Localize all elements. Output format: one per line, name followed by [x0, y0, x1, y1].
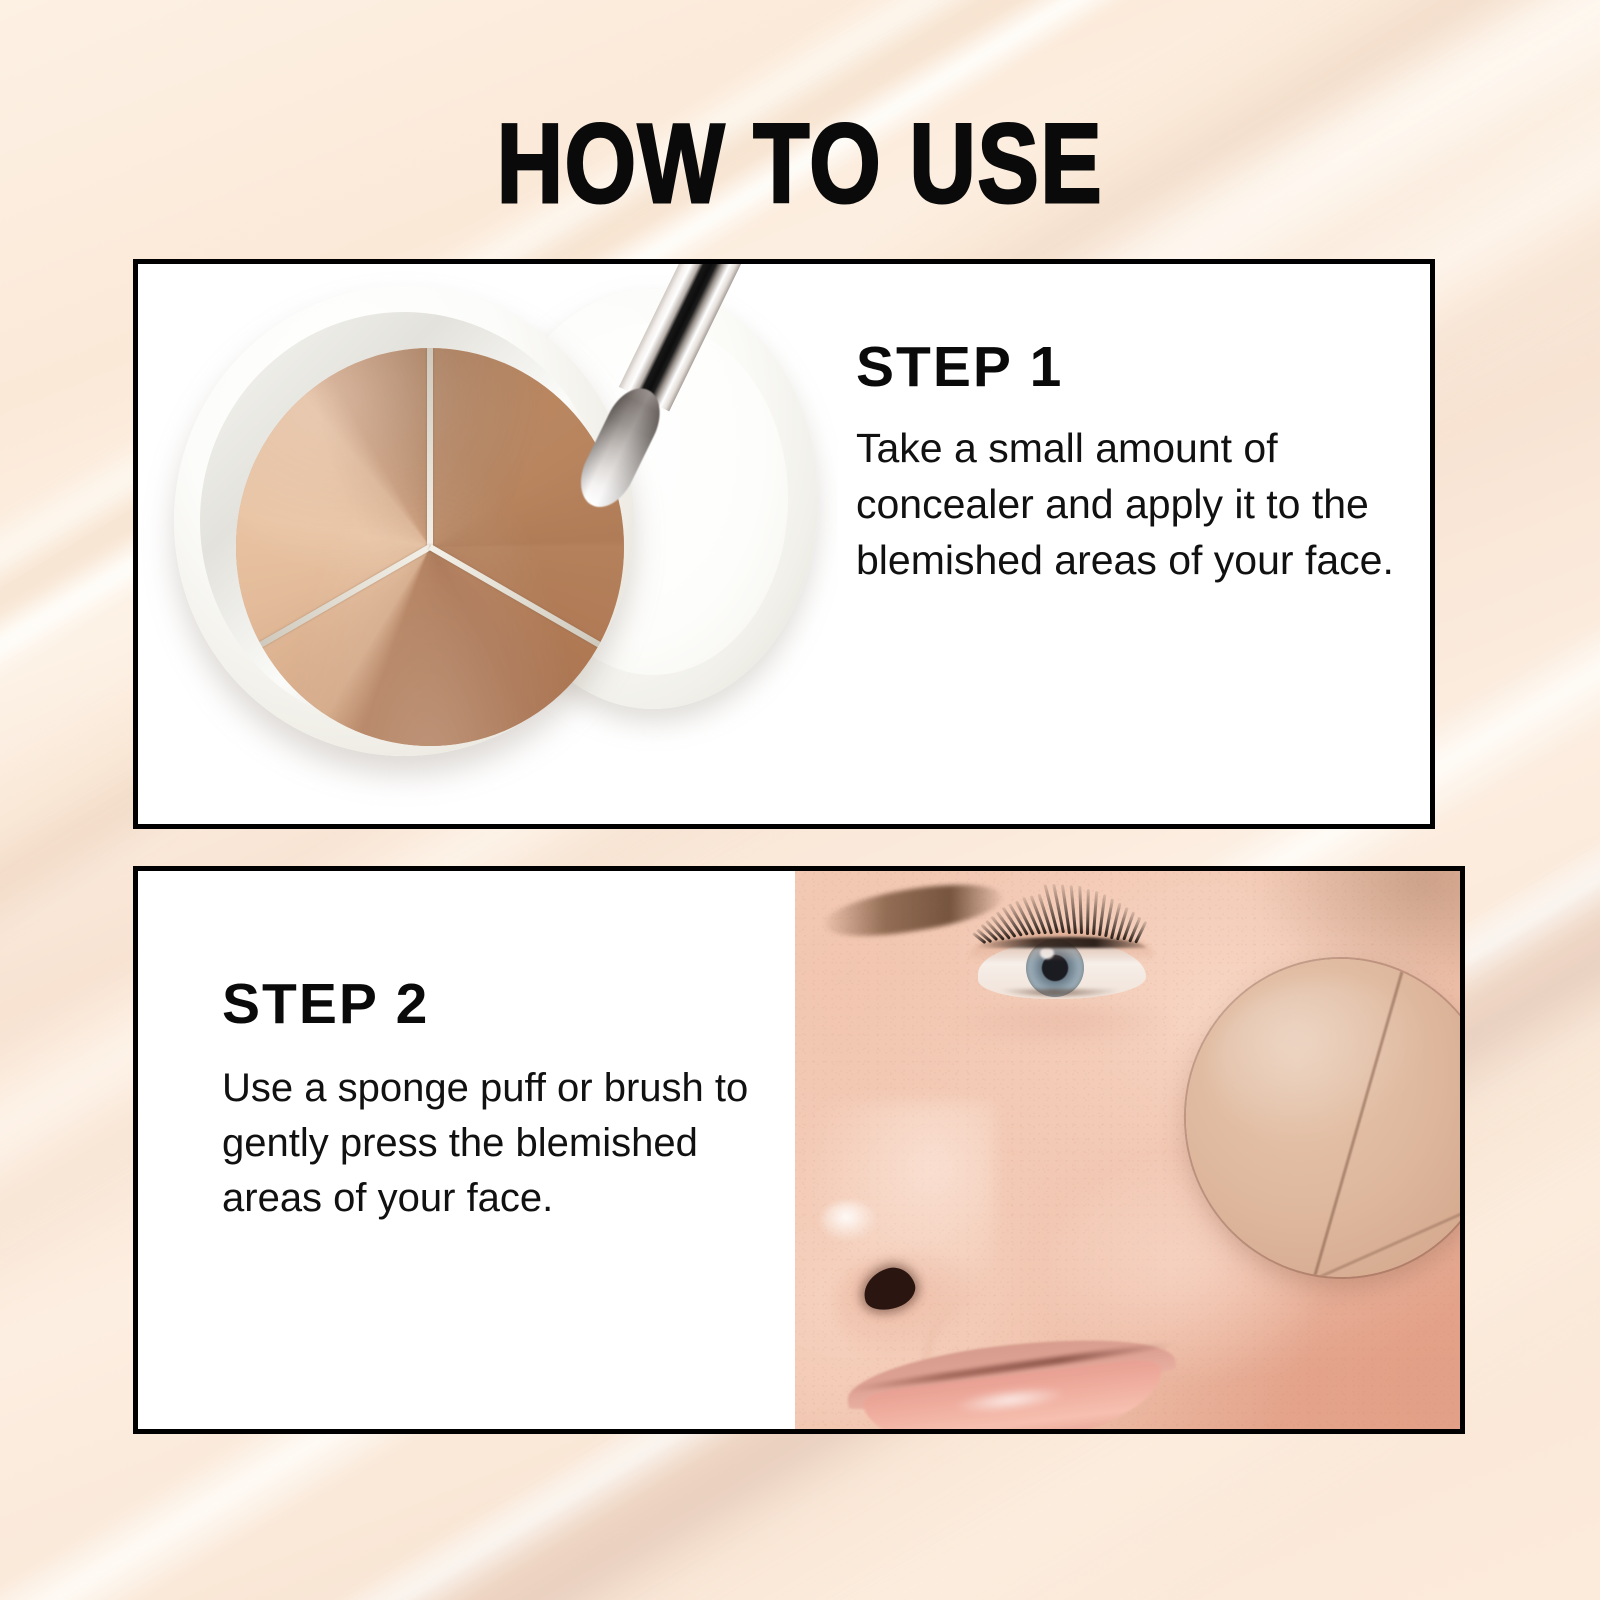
step-2-body: Use a sponge puff or brush to gently pre… — [222, 1061, 752, 1226]
eye — [970, 923, 1154, 1009]
page-title: HOW TO USE — [144, 108, 1456, 220]
concealer-pan — [236, 348, 624, 746]
model-face-image-step-2 — [795, 871, 1460, 1429]
product-image-step-1 — [138, 264, 838, 824]
compact-case-icon — [174, 286, 634, 756]
step-2-heading: STEP 2 — [222, 973, 752, 1035]
eyelash — [1086, 889, 1090, 935]
step-card-2: STEP 2 Use a sponge puff or brush to gen… — [133, 866, 1465, 1434]
wedge-divider — [427, 348, 433, 547]
step-1-heading: STEP 1 — [856, 336, 1396, 398]
lips — [805, 1335, 1225, 1429]
step-1-body: Take a small amount of concealer and app… — [856, 420, 1396, 588]
step-1-text: STEP 1 Take a small amount of concealer … — [856, 336, 1396, 588]
under-eye-area — [945, 1003, 1175, 1049]
step-card-1: STEP 1 Take a small amount of concealer … — [133, 259, 1435, 829]
nose-highlight — [821, 1201, 877, 1241]
how-to-use-infographic: HOW TO USE — [0, 0, 1600, 1600]
compact-rim — [200, 312, 608, 730]
step-2-text: STEP 2 Use a sponge puff or brush to gen… — [222, 973, 752, 1226]
